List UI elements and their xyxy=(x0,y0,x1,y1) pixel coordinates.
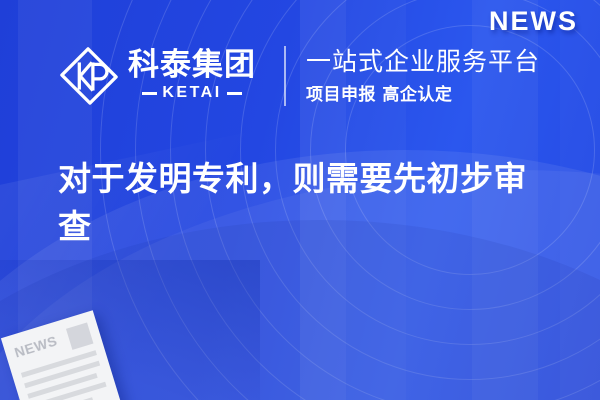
header-divider xyxy=(284,46,286,106)
brand-logo: 科泰集团 KETAI xyxy=(58,45,256,107)
newspaper-thumbnail xyxy=(66,322,93,349)
brand-name-en: KETAI xyxy=(162,84,221,102)
newspaper-sheet: NEWS xyxy=(1,310,123,400)
dash-right-icon xyxy=(227,92,242,95)
news-banner: NEWS 科泰集团 KETAI 一站式企业服务平 xyxy=(0,0,600,400)
brand-name-cn: 科泰集团 xyxy=(128,50,256,82)
newspaper-decoration-icon: NEWS xyxy=(1,310,123,400)
brand-logo-text: 科泰集团 KETAI xyxy=(128,50,256,103)
dash-left-icon xyxy=(142,92,157,95)
brand-tagline: 一站式企业服务平台 项目申报 高企认定 xyxy=(306,48,540,105)
banner-header: 科泰集团 KETAI 一站式企业服务平台 项目申报 高企认定 xyxy=(0,36,600,116)
ketai-diamond-kp-logo-icon xyxy=(58,45,120,107)
headline-text: 对于发明专利，则需要先初步审查 xyxy=(58,155,558,251)
tagline-main: 一站式企业服务平台 xyxy=(306,48,540,76)
tagline-sub: 项目申报 高企认定 xyxy=(306,80,540,105)
brand-name-en-row: KETAI xyxy=(128,84,256,102)
newspaper-title: NEWS xyxy=(12,332,59,360)
news-corner-label: NEWS xyxy=(489,6,578,37)
